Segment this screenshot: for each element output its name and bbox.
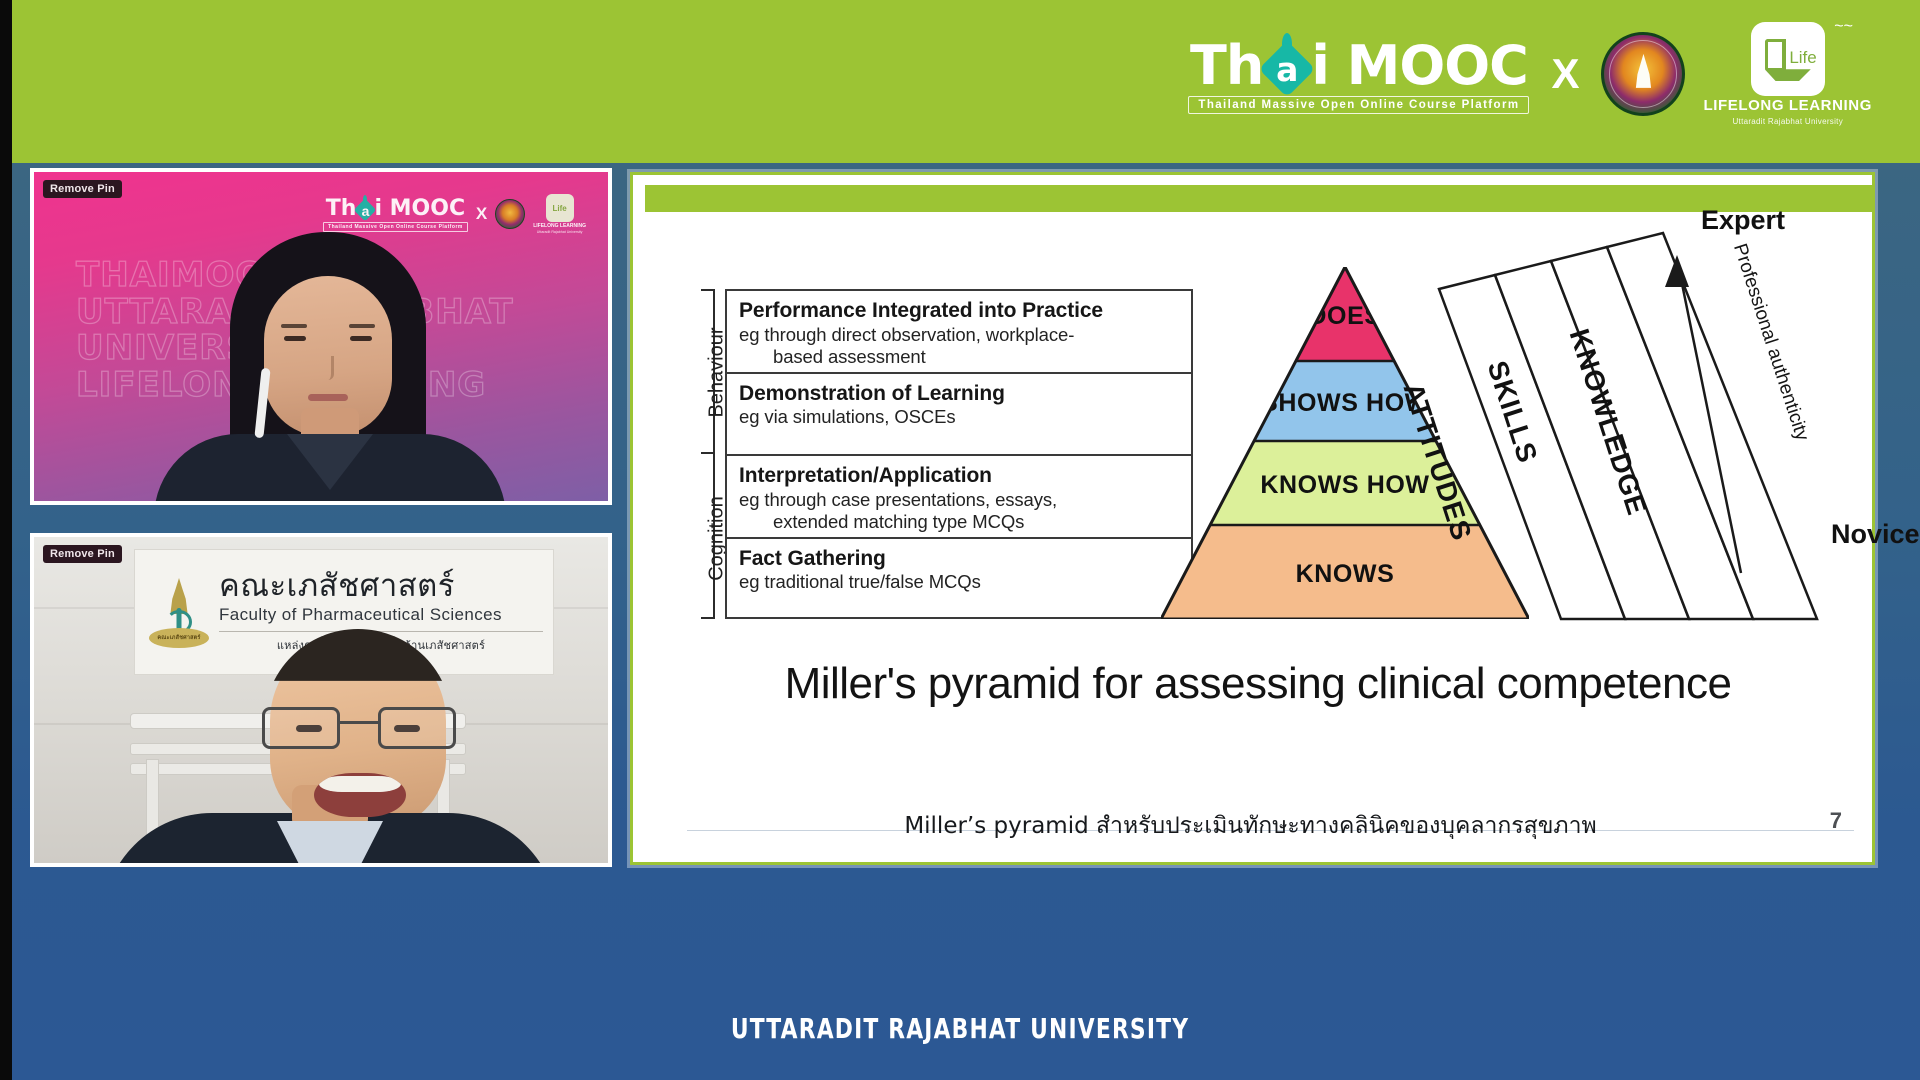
competency-fan: ATTITUDES SKILLS KNOWLEDGE Expert Novice…	[1433, 229, 1853, 649]
participant-2-glasses	[256, 707, 462, 751]
descriptor-row: Demonstration of Learning eg via simulat…	[727, 374, 1191, 457]
label-expert: Expert	[1701, 205, 1785, 236]
row-title: Interpretation/Application	[739, 464, 1181, 488]
faculty-name-thai: คณะเภสัชศาสตร์	[219, 570, 543, 603]
header-banner: Th a i MOOC Thailand Massive Open Online…	[0, 0, 1920, 163]
faculty-seal-text: คณะเภสัชศาสตร์	[149, 628, 209, 648]
tile-1-brand-a: a	[356, 202, 374, 219]
row-subtitle-2: extended matching type MCQs	[773, 511, 1181, 532]
row-subtitle: eg via simulations, OSCEs	[739, 406, 1181, 427]
row-subtitle: eg traditional true/false MCQs	[739, 571, 1181, 592]
left-black-edge	[0, 163, 12, 1080]
pyramid-level-label: KNOWS HOW	[1260, 471, 1429, 500]
remove-pin-button-tile-2[interactable]: Remove Pin	[43, 545, 122, 563]
cognition-axis: Cognition	[689, 289, 723, 619]
tile-1-logo-overlay: Th a i MOOC Thailand Massive Open Online…	[323, 194, 586, 234]
descriptor-row: Fact Gathering eg traditional true/false…	[727, 539, 1191, 622]
pyramid-level-label: KNOWS	[1296, 560, 1395, 589]
university-seal-icon	[1601, 32, 1685, 116]
descriptor-row: Performance Integrated into Practice eg …	[727, 291, 1191, 374]
label-novice: Novice	[1831, 519, 1920, 550]
participant-tile-1[interactable]: THAIMOOCUTTARADIT RAJABHAT UNIVERSITYLIF…	[30, 168, 612, 505]
header-left-black-edge	[0, 0, 12, 163]
tile-1-brand-rest: i MOOC	[374, 198, 465, 220]
participant-1-torso	[154, 434, 506, 505]
descriptor-row: Interpretation/Application eg through ca…	[727, 456, 1191, 539]
page-footer-text: UTTARADIT RAJABHAT UNIVERSITY	[211, 1012, 1709, 1045]
shared-slide[interactable]: Behaviour Cognition Performance Integrat…	[630, 172, 1875, 865]
brand-text-imooc: i MOOC	[1311, 39, 1528, 93]
row-subtitle: eg through direct observation, workplace…	[739, 324, 1181, 345]
tile-1-lifelong-subtitle: Uttaradit Rajabhat University	[537, 230, 583, 234]
millers-pyramid-diagram: Behaviour Cognition Performance Integrat…	[663, 229, 1853, 829]
row-subtitle: eg through case presentations, essays,	[739, 489, 1181, 510]
lifelong-subtitle: Uttaradit Rajabhat University	[1732, 117, 1843, 126]
thai-script-flourish: ~~	[1834, 18, 1853, 36]
pyramid-level-label: DOES	[1308, 302, 1381, 331]
slide-caption: Miller's pyramid for assessing clinical …	[663, 659, 1853, 709]
lifelong-book-icon: Life ~~	[1751, 22, 1825, 96]
slide-footer-thai: Miller’s pyramid สำหรับประเมินทักษะทางคล…	[645, 808, 1856, 844]
tile-1-gem-icon: a	[356, 196, 374, 220]
slide-accent-bar	[645, 185, 1872, 212]
pyramid-descriptor-rows: Behaviour Cognition Performance Integrat…	[689, 289, 1194, 619]
row-title: Fact Gathering	[739, 547, 1181, 571]
row-title: Performance Integrated into Practice	[739, 299, 1181, 323]
descriptor-row-group: Performance Integrated into Practice eg …	[725, 289, 1193, 619]
tile-1-seal-icon	[495, 199, 525, 229]
brand-text-a: a	[1265, 49, 1309, 91]
x-separator: X	[1547, 53, 1583, 95]
header-logo-group: Th a i MOOC Thailand Massive Open Online…	[1188, 12, 1872, 136]
slide-footer: Miller’s pyramid สำหรับประเมินทักษะทางคล…	[645, 810, 1856, 854]
slide-page-number: 7	[1830, 808, 1842, 834]
tile-1-x-separator: X	[476, 204, 487, 224]
participant-2-torso	[102, 813, 558, 867]
tile-1-life-word: Life	[552, 204, 566, 213]
lifelong-life-word: Life	[1789, 48, 1816, 68]
tile-1-brand-th: Th	[326, 198, 357, 220]
faculty-seal-icon: คณะเภสัชศาสตร์	[149, 576, 209, 648]
remove-pin-button-tile-1[interactable]: Remove Pin	[43, 180, 122, 198]
brand-text-th: Th	[1190, 39, 1263, 93]
row-title: Demonstration of Learning	[739, 382, 1181, 406]
meeting-screen: Th a i MOOC Thailand Massive Open Online…	[0, 0, 1920, 1080]
participant-tiles: THAIMOOCUTTARADIT RAJABHAT UNIVERSITYLIF…	[30, 168, 612, 867]
row-subtitle-2: based assessment	[773, 346, 1181, 367]
participant-2-mouth	[314, 773, 406, 817]
tile-1-lifelong-title: LIFELONG LEARNING	[533, 223, 586, 229]
lifelong-learning-logo: Life ~~ LIFELONG LEARNING Uttaradit Raja…	[1703, 22, 1872, 126]
lifelong-title: LIFELONG LEARNING	[1703, 98, 1872, 115]
tile-1-lifelong-icon: Life	[546, 194, 574, 222]
thai-mooc-logo: Th a i MOOC Thailand Massive Open Online…	[1188, 35, 1529, 114]
tile-1-brand-tagline: Thailand Massive Open Online Course Plat…	[323, 222, 468, 232]
thai-gem-icon: a	[1265, 35, 1309, 93]
participant-tile-2[interactable]: คณะเภสัชศาสตร์ คณะเภสัชศาสตร์ Faculty of…	[30, 533, 612, 867]
brand-tagline: Thailand Massive Open Online Course Plat…	[1188, 96, 1529, 114]
slide-canvas: Behaviour Cognition Performance Integrat…	[633, 215, 1872, 862]
faculty-name-english: Faculty of Pharmaceutical Sciences	[219, 605, 543, 625]
